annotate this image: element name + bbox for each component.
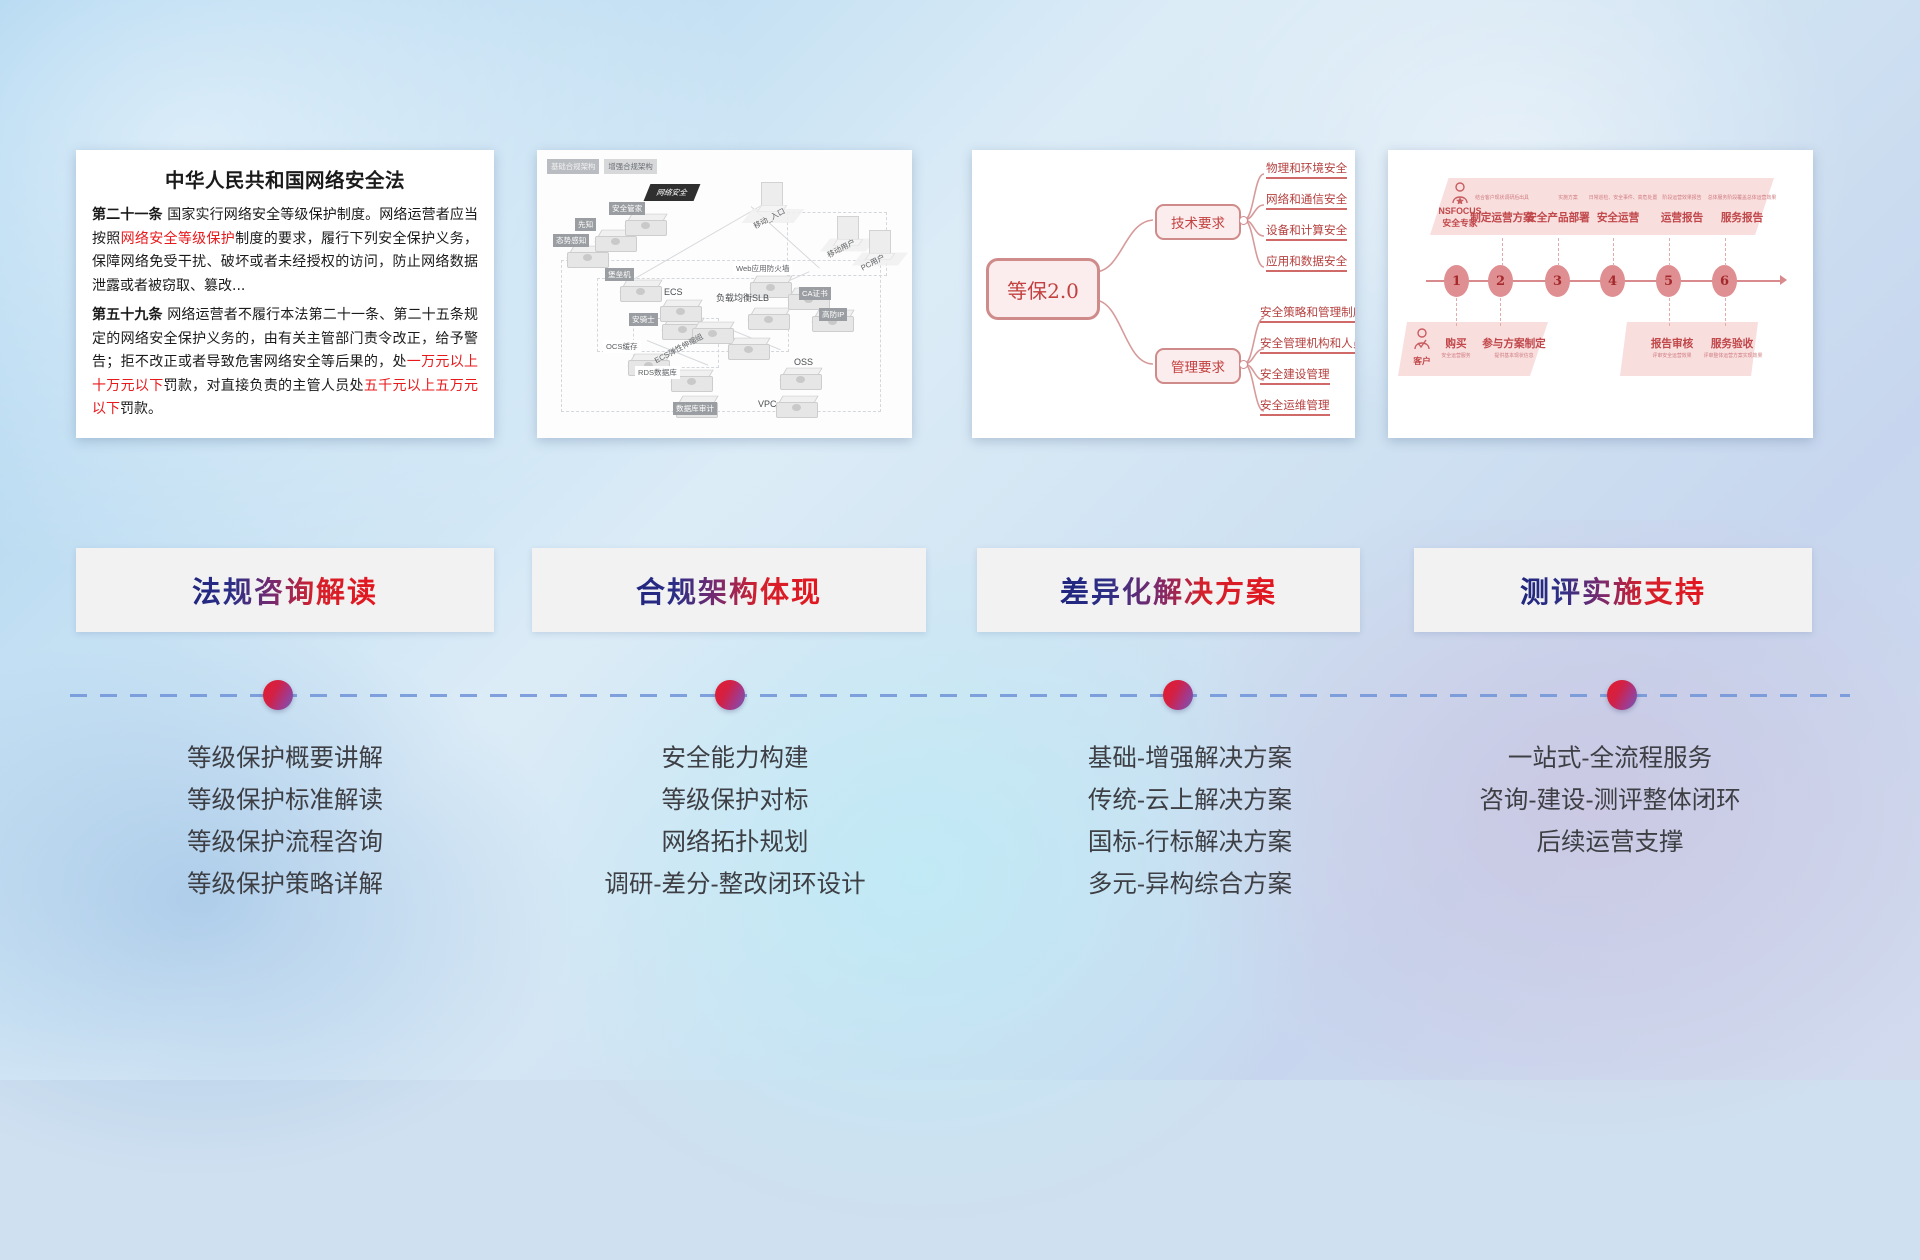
architecture-label-xianzhi: 先知 xyxy=(575,218,596,231)
roadmap-leader-6b xyxy=(1725,298,1726,326)
feature-item: 网络拓扑规划 xyxy=(500,822,970,864)
feature-item: 等级保护策略详解 xyxy=(40,864,530,906)
timeline-dot-1[interactable] xyxy=(263,680,293,710)
roadmap-bottom-minor-4: 评审整体运营方案实现效果 xyxy=(1694,352,1772,359)
roadmap-leader-4 xyxy=(1613,238,1614,266)
feature-item: 基础-增强解决方案 xyxy=(955,738,1425,780)
law-card-title: 中华人民共和国网络安全法 xyxy=(92,164,478,193)
thumbnail-row: 中华人民共和国网络安全法 第二十一条 国家实行网络安全等级保护制度。网络运营者应… xyxy=(0,150,1920,445)
timeline xyxy=(70,694,1850,697)
architecture-label-ecs: ECS xyxy=(661,286,686,298)
timeline-dot-3[interactable] xyxy=(1163,680,1193,710)
mindmap-leaf-mgmt-4: 安全运维管理 xyxy=(1260,397,1330,416)
law-text: 罚款，对直接负责的主管人员处 xyxy=(164,378,364,394)
roadmap-leader-1b xyxy=(1456,298,1457,326)
architecture-label-rds: RDS数据库 xyxy=(635,366,680,379)
law-article-number: 第二十一条 xyxy=(92,207,163,223)
law-article-21: 第二十一条 国家实行网络安全等级保护制度。网络运营者应当按照网络安全等级保护制度… xyxy=(92,204,478,298)
feature-item: 等级保护标准解读 xyxy=(40,780,530,822)
roadmap-step-4[interactable]: 4 xyxy=(1600,265,1625,297)
roadmap-step-1[interactable]: 1 xyxy=(1444,265,1469,297)
section-title-box-2[interactable]: 合规架构体现 xyxy=(532,548,926,632)
feature-item: 后续运营支撑 xyxy=(1405,822,1815,864)
timeline-dot-2[interactable] xyxy=(715,680,745,710)
law-article-number: 第五十九条 xyxy=(92,307,163,323)
architecture-label-ocs-cache: OCS缓存 xyxy=(603,340,641,353)
mindmap-leaf-tech-1: 物理和环境安全 xyxy=(1266,160,1347,179)
roadmap-step-2[interactable]: 2 xyxy=(1488,265,1513,297)
architecture-label-vpc: VPC xyxy=(755,398,780,410)
roadmap-bottom-major-1: 购买 xyxy=(1432,336,1480,351)
architecture-label-security-butler: 安全管家 xyxy=(609,202,645,215)
mindmap-root-node: 等保2.0 xyxy=(986,258,1100,320)
feature-item: 等级保护流程咨询 xyxy=(40,822,530,864)
mindmap-collapse-knob-management[interactable] xyxy=(1239,360,1248,369)
feature-column-1: 等级保护概要讲解 等级保护标准解读 等级保护流程咨询 等级保护策略详解 xyxy=(40,738,530,907)
section-title-box-3[interactable]: 差异化解决方案 xyxy=(977,548,1360,632)
architecture-tab-enhanced[interactable]: 增强合规架构 xyxy=(604,159,656,174)
law-highlight: 网络安全等级保护 xyxy=(121,231,235,247)
architecture-label-situational-awareness: 态势感知 xyxy=(553,234,589,247)
architecture-tabs: 基础合规架构 增强合规架构 xyxy=(547,159,657,174)
thumbnail-architecture-card[interactable]: 基础合规架构 增强合规架构 网络安全 态势感知 先知 安全管家 xyxy=(537,150,912,438)
law-text: 罚款。 xyxy=(120,401,162,417)
roadmap-bottom-major-2: 参与方案制定 xyxy=(1478,336,1550,351)
architecture-node-vpc xyxy=(773,388,819,422)
feature-column-4: 一站式-全流程服务 咨询-建设-测评整体闭环 后续运营支撑 xyxy=(1405,738,1815,864)
feature-item: 调研-差分-整改闭环设计 xyxy=(500,864,970,906)
feature-item: 传统-云上解决方案 xyxy=(955,780,1425,822)
roadmap-leader-2b xyxy=(1500,298,1501,326)
architecture-banner: 网络安全 xyxy=(644,184,701,201)
roadmap-top-major-5: 服务报告 xyxy=(1696,210,1788,225)
section-title-label-2: 合规架构体现 xyxy=(636,569,822,611)
section-title-box-1[interactable]: 法规咨询解读 xyxy=(76,548,494,632)
roadmap-bottom-major-4: 服务验收 xyxy=(1702,336,1762,351)
mindmap-branch-technical: 技术要求 xyxy=(1155,204,1241,240)
roadmap-step-6[interactable]: 6 xyxy=(1712,265,1737,297)
architecture-label-bastion-host: 堡垒机 xyxy=(605,268,634,281)
architecture-tab-basic[interactable]: 基础合规架构 xyxy=(547,159,599,174)
roadmap-diagram: NSFOCUS 安全专家 客户 1 2 3 4 5 6 xyxy=(1388,150,1813,438)
roadmap-step-5[interactable]: 5 xyxy=(1656,265,1681,297)
architecture-label-ca-cert: CA证书 xyxy=(799,287,831,300)
mindmap-branch-management: 管理要求 xyxy=(1155,348,1241,384)
mindmap-leaf-mgmt-2: 安全管理机构和人员 xyxy=(1260,335,1355,354)
architecture-label-oss: OSS xyxy=(791,356,816,368)
roadmap-axis-arrow xyxy=(1780,275,1787,285)
architecture-label-slb: 负载均衡SLB xyxy=(713,290,772,305)
timeline-dot-4[interactable] xyxy=(1607,680,1637,710)
feature-item: 等级保护概要讲解 xyxy=(40,738,530,780)
timeline-dashed-line xyxy=(70,694,1850,697)
mindmap-leaf-mgmt-3: 安全建设管理 xyxy=(1260,366,1330,385)
thumbnail-law-card[interactable]: 中华人民共和国网络安全法 第二十一条 国家实行网络安全等级保护制度。网络运营者应… xyxy=(76,150,494,438)
thumbnail-roadmap-card[interactable]: NSFOCUS 安全专家 客户 1 2 3 4 5 6 xyxy=(1388,150,1813,438)
architecture-label-anqishi: 安骑士 xyxy=(629,313,658,326)
section-title-box-4[interactable]: 测评实施支持 xyxy=(1414,548,1812,632)
section-title-label-3: 差异化解决方案 xyxy=(1060,569,1277,611)
mindmap-leaf-mgmt-1: 安全策略和管理制度 xyxy=(1260,304,1355,323)
roadmap-leader-5 xyxy=(1669,238,1670,266)
roadmap-bottom-major-3: 报告审核 xyxy=(1642,336,1702,351)
mindmap-collapse-knob-technical[interactable] xyxy=(1239,216,1248,225)
feature-item: 多元-异构综合方案 xyxy=(955,864,1425,906)
thumbnail-mindmap-card[interactable]: 等保2.0 技术要求 管理要求 物理和环境安全 网络和通信安全 设备和计算安全 … xyxy=(972,150,1355,438)
roadmap-leader-5b xyxy=(1669,298,1670,326)
architecture-diagram: 基础合规架构 增强合规架构 网络安全 态势感知 先知 安全管家 xyxy=(537,150,912,438)
law-article-59: 第五十九条 网络运营者不履行本法第二十一条、第二十五条规定的网络安全保护义务的，… xyxy=(92,304,478,422)
architecture-label-waf: Web应用防火墙 xyxy=(733,262,792,275)
roadmap-leader-2 xyxy=(1502,238,1503,266)
section-title-label-4: 测评实施支持 xyxy=(1520,569,1706,611)
mindmap-leaf-tech-2: 网络和通信安全 xyxy=(1266,191,1347,210)
roadmap-leader-6 xyxy=(1725,238,1726,266)
roadmap-leader-3 xyxy=(1558,238,1559,266)
feature-column-3: 基础-增强解决方案 传统-云上解决方案 国标-行标解决方案 多元-异构综合方案 xyxy=(955,738,1425,907)
feature-item: 国标-行标解决方案 xyxy=(955,822,1425,864)
mindmap-leaf-tech-3: 设备和计算安全 xyxy=(1266,222,1347,241)
architecture-node-scaling-2 xyxy=(725,330,771,364)
architecture-label-db-audit: 数据库审计 xyxy=(673,402,717,415)
feature-item: 咨询-建设-测评整体闭环 xyxy=(1405,780,1815,822)
architecture-label-anti-ddos: 高防IP xyxy=(819,308,847,321)
feature-item: 安全能力构建 xyxy=(500,738,970,780)
law-card-body: 中华人民共和国网络安全法 第二十一条 国家实行网络安全等级保护制度。网络运营者应… xyxy=(76,150,494,438)
roadmap-top-minor-5: 总体服务阶段覆盖总体运营效果 xyxy=(1688,194,1796,201)
feature-item: 一站式-全流程服务 xyxy=(1405,738,1815,780)
section-title-label-1: 法规咨询解读 xyxy=(192,569,378,611)
feature-column-2: 安全能力构建 等级保护对标 网络拓扑规划 调研-差分-整改闭环设计 xyxy=(500,738,970,907)
roadmap-bottom-minor-1: 安全运营服务 xyxy=(1428,352,1484,359)
mindmap-leaf-tech-4: 应用和数据安全 xyxy=(1266,253,1347,272)
roadmap-step-3[interactable]: 3 xyxy=(1545,265,1570,297)
customer-icon xyxy=(1412,328,1432,350)
feature-item: 等级保护对标 xyxy=(500,780,970,822)
roadmap-bottom-minor-2: 提供基本现状信息 xyxy=(1478,352,1550,359)
mindmap-diagram: 等保2.0 技术要求 管理要求 物理和环境安全 网络和通信安全 设备和计算安全 … xyxy=(972,150,1355,438)
